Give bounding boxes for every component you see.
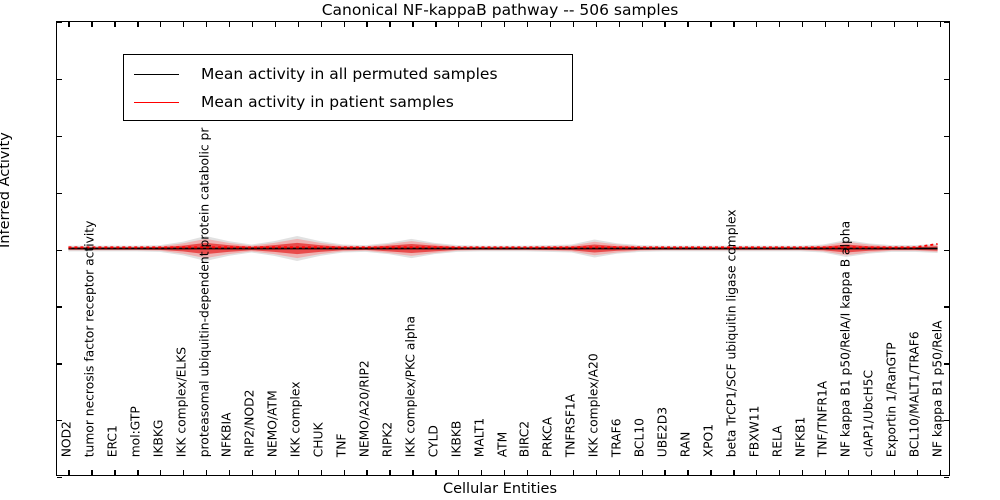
x-tickmark: [183, 22, 184, 27]
legend-entry-permuted: Mean activity in all permuted samples: [134, 60, 498, 88]
x-tickmark: [710, 470, 711, 475]
x-tick-label: BCL10: [634, 418, 646, 457]
x-tick-label: UBE2D3: [657, 407, 669, 457]
x-tickmark: [412, 22, 413, 27]
x-tickmark: [344, 22, 345, 27]
x-tickmark: [802, 470, 803, 475]
x-tick-label: FBXW11: [748, 405, 760, 457]
x-axis-label: Cellular Entities: [0, 481, 1000, 497]
plot-area: NOD2tumor necrosis factor receptor activ…: [56, 21, 950, 476]
y-tickmark: [944, 477, 949, 478]
x-tick-label: IKK complex/PKC alpha: [405, 316, 417, 457]
x-tickmark: [298, 22, 299, 27]
x-tickmark: [91, 470, 92, 475]
x-tickmark: [756, 22, 757, 27]
x-tickmark: [940, 22, 941, 27]
x-tickmark: [458, 22, 459, 27]
x-tickmark: [848, 470, 849, 475]
x-tickmark: [664, 470, 665, 475]
x-tickmark: [435, 470, 436, 475]
x-tickmark: [894, 470, 895, 475]
chart-title: Canonical NF-kappaB pathway -- 506 sampl…: [0, 1, 1000, 19]
x-tick-label: RAN: [680, 431, 692, 457]
x-tickmark: [619, 22, 620, 27]
x-tickmark: [114, 22, 115, 27]
x-tickmark: [435, 22, 436, 27]
x-tickmark: [894, 22, 895, 27]
y-tickmark: [57, 136, 62, 137]
x-tick-label: proteasomal ubiquitin-dependent protein …: [198, 127, 210, 457]
y-tickmark: [57, 193, 62, 194]
x-tickmark: [550, 22, 551, 27]
x-tick-label: tumor necrosis factor receptor activity: [84, 220, 96, 457]
x-tickmark: [321, 22, 322, 27]
x-tickmark: [275, 22, 276, 27]
x-tick-label: cIAP1/UbcH5C: [863, 370, 875, 457]
x-tick-label: PRKCA: [542, 417, 554, 457]
x-tickmark: [733, 470, 734, 475]
x-tickmark: [252, 22, 253, 27]
y-tickmark: [57, 306, 62, 307]
y-tickmark: [57, 79, 62, 80]
x-tick-label: beta TrCP1/SCF ubiquitin ligase complex: [725, 209, 737, 457]
x-tick-label: NEMO/A20/RIP2: [359, 360, 371, 457]
x-tickmark: [596, 22, 597, 27]
x-tick-label: NF kappa B1 p50/RelA/I kappa B alpha: [840, 221, 852, 457]
x-tick-label: BCL10/MALT1/TRAF6: [909, 331, 921, 457]
x-tick-label: TNF/TNFR1A: [817, 381, 829, 458]
x-tick-label: IKBKG: [152, 419, 164, 457]
x-tickmark: [389, 22, 390, 27]
x-tick-label: IKK complex: [290, 381, 302, 457]
x-tickmark: [229, 22, 230, 27]
x-tickmark: [687, 22, 688, 27]
y-tickmark: [57, 250, 62, 251]
x-tick-label: NFKBIA: [221, 412, 233, 457]
x-tick-label: XPO1: [703, 424, 715, 457]
y-tickmark: [944, 79, 949, 80]
x-tickmark: [779, 470, 780, 475]
x-tickmark: [642, 470, 643, 475]
x-tickmark: [573, 470, 574, 475]
x-tickmark: [68, 470, 69, 475]
x-tickmark: [229, 470, 230, 475]
x-tickmark: [366, 470, 367, 475]
y-tickmark: [944, 22, 949, 23]
x-tickmark: [825, 22, 826, 27]
x-tickmark: [114, 470, 115, 475]
x-tickmark: [298, 470, 299, 475]
chart-legend: Mean activity in all permuted samples Me…: [123, 54, 573, 121]
x-tickmark: [504, 22, 505, 27]
x-tickmark: [940, 470, 941, 475]
x-tickmark: [412, 470, 413, 475]
x-tickmark: [871, 22, 872, 27]
x-tickmark: [481, 470, 482, 475]
x-tick-label: mol:GTP: [129, 406, 141, 457]
x-tickmark: [366, 22, 367, 27]
x-tick-label: TNF: [336, 433, 348, 457]
x-tickmark: [206, 470, 207, 475]
x-tickmark: [137, 470, 138, 475]
x-tick-label: IKK complex/ELKS: [175, 347, 187, 457]
x-tickmark: [504, 470, 505, 475]
x-tick-label: MALT1: [473, 417, 485, 457]
x-tick-label: RIP2/NOD2: [244, 389, 256, 457]
x-tick-label: CYLD: [427, 425, 439, 457]
x-tick-label: NFKB1: [794, 416, 806, 457]
y-tickmark: [944, 420, 949, 421]
legend-entry-patient: Mean activity in patient samples: [134, 88, 454, 116]
x-tickmark: [917, 22, 918, 27]
x-tickmark: [825, 470, 826, 475]
x-tick-label: NF kappa B1 p50/RelA: [932, 320, 944, 457]
x-tickmark: [756, 470, 757, 475]
x-tickmark: [160, 470, 161, 475]
x-tickmark: [917, 470, 918, 475]
x-tickmark: [779, 22, 780, 27]
y-tickmark: [57, 363, 62, 364]
x-tick-label: IKK complex/A20: [588, 353, 600, 457]
legend-label-patient: Mean activity in patient samples: [201, 93, 454, 111]
legend-swatch-patient: [134, 102, 179, 103]
x-tick-label: RELA: [771, 425, 783, 457]
x-tickmark: [275, 470, 276, 475]
x-tick-label: NOD2: [61, 421, 73, 457]
x-tickmark: [573, 22, 574, 27]
x-tickmark: [252, 470, 253, 475]
x-tickmark: [687, 470, 688, 475]
y-tickmark: [944, 306, 949, 307]
x-tick-label: IKBKB: [450, 420, 462, 457]
x-tickmark: [389, 470, 390, 475]
x-tick-label: CHUK: [313, 422, 325, 457]
x-tickmark: [344, 470, 345, 475]
y-tickmark: [944, 193, 949, 194]
x-tickmark: [642, 22, 643, 27]
x-tickmark: [91, 22, 92, 27]
y-tickmark: [57, 22, 62, 23]
x-tick-label: NEMO/ATM: [267, 390, 279, 457]
x-tickmark: [848, 22, 849, 27]
y-axis-label: Inferred Activity: [0, 132, 13, 248]
x-tickmark: [68, 22, 69, 27]
y-tickmark: [944, 363, 949, 364]
x-tick-label: BIRC2: [519, 421, 531, 457]
x-tickmark: [733, 22, 734, 27]
x-tickmark: [458, 470, 459, 475]
x-tickmark: [321, 470, 322, 475]
x-tickmark: [481, 22, 482, 27]
x-tick-label: TNFRSF1A: [565, 394, 577, 457]
x-tick-label: Exportin 1/RanGTP: [886, 342, 898, 457]
y-tickmark: [944, 136, 949, 137]
x-tickmark: [596, 470, 597, 475]
x-tickmark: [710, 22, 711, 27]
x-tick-label: ATM: [496, 431, 508, 457]
x-tickmark: [619, 470, 620, 475]
x-tickmark: [550, 470, 551, 475]
x-tickmark: [664, 22, 665, 27]
chart-figure: Canonical NF-kappaB pathway -- 506 sampl…: [0, 0, 1000, 500]
x-tickmark: [802, 22, 803, 27]
legend-label-permuted: Mean activity in all permuted samples: [201, 65, 498, 83]
x-tick-label: TRAF6: [611, 418, 623, 457]
x-tickmark: [527, 470, 528, 475]
x-tick-label: RIPK2: [382, 422, 394, 457]
x-tickmark: [183, 470, 184, 475]
x-tickmark: [160, 22, 161, 27]
y-tickmark: [944, 250, 949, 251]
y-tickmark: [57, 477, 62, 478]
x-tickmark: [871, 470, 872, 475]
x-tick-label: ERC1: [107, 425, 119, 457]
x-tickmark: [527, 22, 528, 27]
x-tickmark: [137, 22, 138, 27]
legend-swatch-permuted: [134, 74, 179, 75]
x-tickmark: [206, 22, 207, 27]
